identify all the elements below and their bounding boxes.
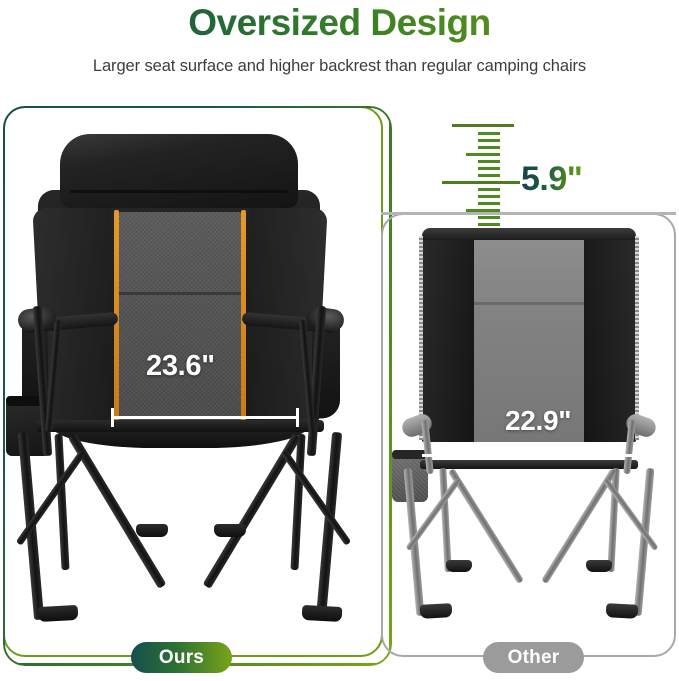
chair-headrest bbox=[60, 134, 298, 208]
height-difference-ruler bbox=[452, 120, 532, 230]
other-seat-rail bbox=[420, 460, 638, 469]
other-side-panel-left bbox=[422, 234, 474, 442]
chair-foot-rear-right bbox=[214, 524, 246, 537]
chair-seat-rail bbox=[36, 420, 324, 432]
chair-foot-left bbox=[38, 605, 79, 622]
chair-headrest-seam bbox=[70, 190, 288, 193]
chair-foot-rear-left bbox=[136, 524, 168, 537]
other-seat-width-label: 22.9" bbox=[505, 405, 571, 437]
panel-badge-ours: Ours bbox=[131, 642, 232, 673]
chair-leg-rear-left bbox=[54, 434, 69, 570]
other-foot-left bbox=[420, 603, 453, 619]
seat-width-measure-line bbox=[112, 416, 298, 419]
chair-mesh-panel bbox=[118, 212, 242, 424]
chair-mesh-seam bbox=[118, 292, 242, 295]
other-zipper-right bbox=[635, 236, 639, 440]
page-subtitle: Larger seat surface and higher backrest … bbox=[0, 57, 679, 76]
other-zipper-left bbox=[419, 236, 423, 440]
panel-badge-other: Other bbox=[483, 642, 584, 673]
chair-leg-rear-right bbox=[290, 434, 305, 570]
ours-seat-width-label: 23.6" bbox=[146, 350, 215, 383]
header: Oversized Design Larger seat surface and… bbox=[0, 0, 679, 92]
seat-width-measure-cap-right bbox=[296, 408, 299, 427]
other-center-panel-seam bbox=[474, 302, 584, 305]
height-difference-label: 5.9" bbox=[521, 160, 582, 199]
other-foot-right bbox=[606, 603, 639, 619]
page-title: Oversized Design bbox=[0, 2, 679, 44]
seat-width-measure-cap-left bbox=[111, 408, 114, 427]
other-side-panel-right bbox=[584, 234, 636, 442]
other-foot-rear-right bbox=[586, 560, 612, 572]
other-leg-rear-left bbox=[439, 468, 451, 572]
other-foot-rear-left bbox=[446, 560, 472, 572]
other-seat-width-measure-line bbox=[422, 454, 636, 457]
chair-foot-right bbox=[302, 605, 343, 622]
